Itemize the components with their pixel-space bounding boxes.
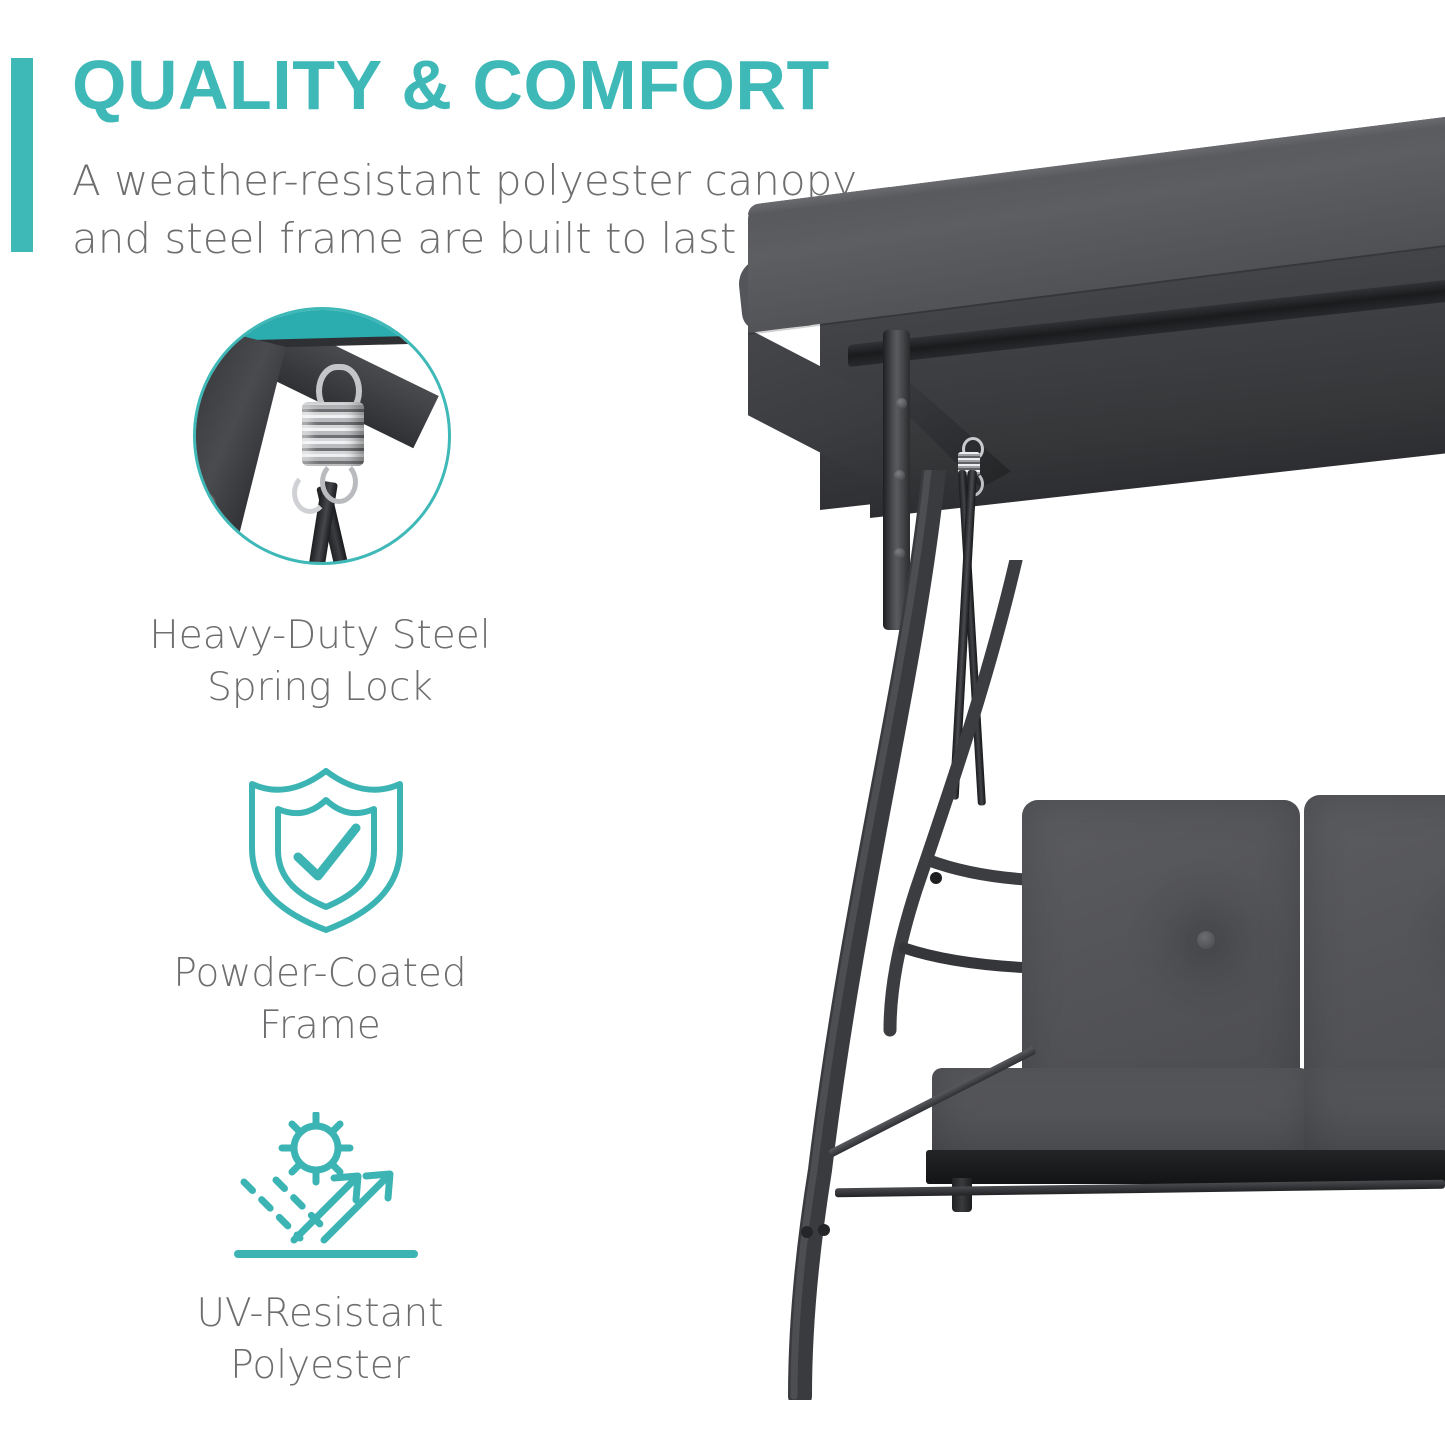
product-photo-patio-swing <box>700 0 1445 1445</box>
feature-1-line-2: Spring Lock <box>0 662 640 714</box>
shield-check-icon <box>240 762 412 943</box>
feature-spring-lock-label: Heavy-Duty Steel Spring Lock <box>0 610 640 714</box>
feature-1-line-1: Heavy-Duty Steel <box>0 610 640 662</box>
steel-brace <box>196 330 286 562</box>
s-hook-icon <box>292 472 328 514</box>
cushion-tuft-button-left <box>1197 931 1215 949</box>
spring-lock-photo <box>193 307 451 565</box>
shield-check-icon-svg <box>240 762 412 938</box>
feature-1-label: Heavy-Duty Steel Spring Lock <box>0 610 640 714</box>
uv-resistant-icon <box>228 1112 424 1285</box>
feature-uv-resistant-label: UV-Resistant Polyester <box>0 1288 640 1392</box>
feature-powder-coated-label: Powder-Coated Frame <box>0 948 640 1052</box>
infographic-page: QUALITY & COMFORT A weather-resistant po… <box>0 0 1445 1445</box>
spring-lock-photo-inner <box>196 310 448 562</box>
feature-3-line-1: UV-Resistant <box>0 1288 640 1340</box>
accent-bar <box>11 58 33 252</box>
feature-3-label: UV-Resistant Polyester <box>0 1288 640 1392</box>
uv-resistant-icon-svg <box>228 1112 424 1280</box>
feature-2-line-1: Powder-Coated <box>0 948 640 1000</box>
post-bolt-top <box>896 398 907 409</box>
feature-2-line-2: Frame <box>0 1000 640 1052</box>
feature-3-line-2: Polyester <box>0 1340 640 1392</box>
feature-2-label: Powder-Coated Frame <box>0 948 640 1052</box>
seat-frame-bar <box>926 1150 1445 1184</box>
spring-coil <box>302 402 364 466</box>
